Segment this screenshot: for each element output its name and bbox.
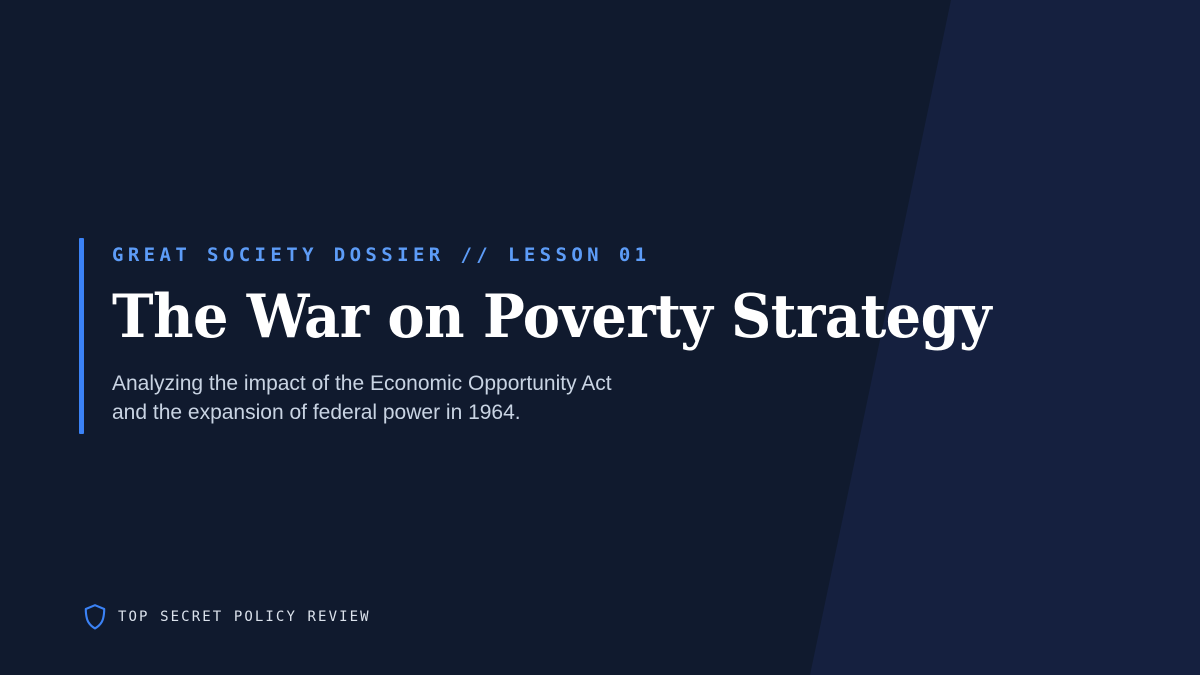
subtitle-text: Analyzing the impact of the Economic Opp… — [112, 369, 1057, 427]
footer-badge-label: TOP SECRET POLICY REVIEW — [118, 610, 371, 624]
title-slide: GREAT SOCIETY DOSSIER // LESSON 01 The W… — [0, 0, 1200, 675]
shield-icon — [83, 603, 107, 631]
footer-badge: TOP SECRET POLICY REVIEW — [83, 603, 371, 631]
title-text-column: GREAT SOCIETY DOSSIER // LESSON 01 The W… — [79, 238, 1057, 427]
eyebrow-label: GREAT SOCIETY DOSSIER // LESSON 01 — [112, 238, 1057, 265]
page-title: The War on Poverty Strategy — [112, 287, 991, 347]
title-block: GREAT SOCIETY DOSSIER // LESSON 01 The W… — [79, 238, 1057, 427]
accent-bar — [79, 238, 84, 434]
